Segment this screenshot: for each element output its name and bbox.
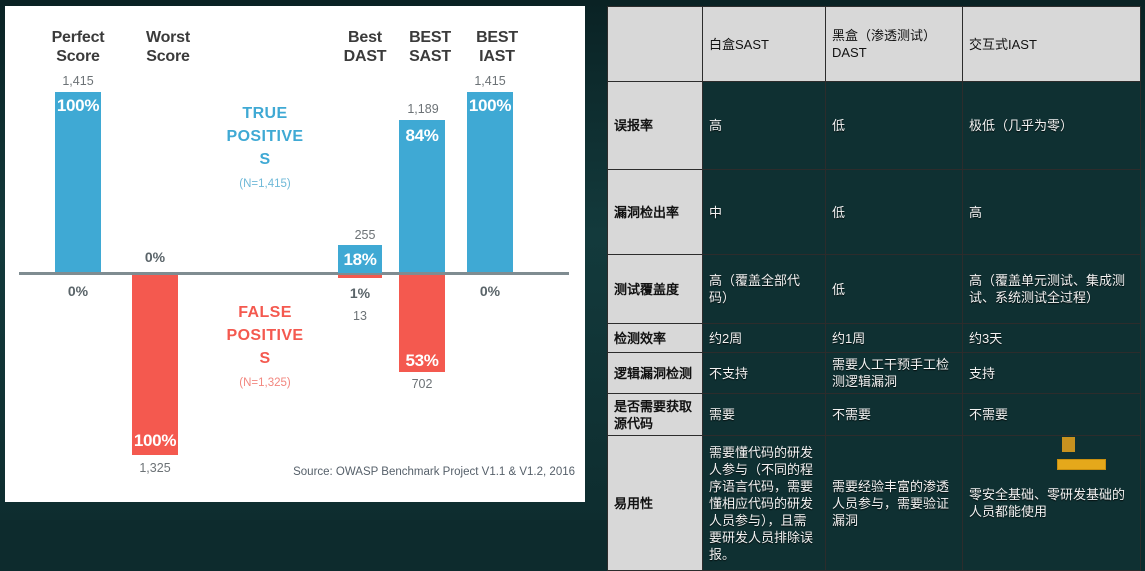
table-row: 测试覆盖度 高（覆盖全部代码） 低 高（覆盖单元测试、集成测试、系统测试全过程） xyxy=(608,255,1141,324)
legend-line-1: TRUE xyxy=(242,105,287,122)
annotation-underline-bar xyxy=(1057,459,1106,470)
chart-plot-area: Perfect Score Worst Score Best DAST BEST… xyxy=(5,6,585,502)
table-row: 误报率 高 低 极低（几乎为零） xyxy=(608,82,1141,170)
bar-count-label-dast-fp: 13 xyxy=(338,309,382,323)
table-header-dast: 黑盒（渗透测试） DAST xyxy=(826,7,963,82)
cell-ease-of-use-sast: 需要懂代码的研发人参与（不同的程序语言代码，需要懂相应代码的研发人员参与），且需… xyxy=(703,436,826,571)
category-line-1: BEST xyxy=(476,29,518,46)
bar-percent-label-worst-fp: 100% xyxy=(132,431,178,451)
legend-line-2: POSITIVE xyxy=(227,327,304,344)
cell-logic-vuln-detection-iast: 支持 xyxy=(963,353,1141,394)
bar-percent-label-dast-tp: 18% xyxy=(338,250,382,270)
cell-detection-rate-iast: 高 xyxy=(963,170,1141,255)
cell-false-positive-rate-sast: 高 xyxy=(703,82,826,170)
legend-line-3: S xyxy=(259,151,270,168)
table-header-dast-line1: 黑盒（渗透测试） xyxy=(832,28,936,43)
cell-detection-efficiency-dast: 约1周 xyxy=(826,324,963,353)
row-label-needs-source-code: 是否需要获取源代码 xyxy=(608,394,703,436)
cell-false-positive-rate-iast: 极低（几乎为零） xyxy=(963,82,1141,170)
legend-sample-size: (N=1,325) xyxy=(205,372,325,395)
owasp-benchmark-chart: Perfect Score Worst Score Best DAST BEST… xyxy=(5,6,585,502)
bar-count-label-perfect-tp: 1,415 xyxy=(33,74,123,88)
bar-iast-true-positive xyxy=(467,92,513,272)
cell-test-coverage-sast: 高（覆盖全部代码） xyxy=(703,255,826,324)
bar-count-label-sast-fp: 702 xyxy=(389,377,455,391)
table-header-row: 白盒SAST 黑盒（渗透测试） DAST 交互式IAST xyxy=(608,7,1141,82)
bar-count-label-sast-tp: 1,189 xyxy=(390,102,456,116)
cell-detection-rate-dast: 低 xyxy=(826,170,963,255)
bar-percent-label-worst-tp: 0% xyxy=(132,249,178,265)
category-line-2: SAST xyxy=(409,48,451,65)
row-label-test-coverage: 测试覆盖度 xyxy=(608,255,703,324)
row-label-detection-efficiency: 检测效率 xyxy=(608,324,703,353)
bar-dast-false-positive xyxy=(338,275,382,278)
table-header-blank xyxy=(608,7,703,82)
cell-test-coverage-dast: 低 xyxy=(826,255,963,324)
chart-source-note: Source: OWASP Benchmark Project V1.1 & V… xyxy=(285,466,575,478)
category-line-2: Score xyxy=(146,48,189,65)
slide-background: Perfect Score Worst Score Best DAST BEST… xyxy=(0,0,1145,520)
cell-needs-source-code-sast: 需要 xyxy=(703,394,826,436)
legend-sample-size: (N=1,415) xyxy=(205,173,325,196)
category-line-2: IAST xyxy=(479,48,515,65)
bar-percent-label-iast-fp: 0% xyxy=(467,283,513,299)
cell-detection-rate-sast: 中 xyxy=(703,170,826,255)
legend-false-positives: FALSE POSITIVE S (N=1,325) xyxy=(205,301,325,395)
bar-percent-label-dast-fp: 1% xyxy=(338,285,382,301)
category-line-1: Best xyxy=(348,29,382,46)
chart-zero-axis xyxy=(19,272,569,275)
bar-count-label-iast-tp: 1,415 xyxy=(457,74,523,88)
cell-logic-vuln-detection-sast: 不支持 xyxy=(703,353,826,394)
row-label-logic-vuln-detection: 逻辑漏洞检测 xyxy=(608,353,703,394)
bar-percent-label-sast-fp: 53% xyxy=(399,351,445,371)
text-cursor-highlight xyxy=(1062,437,1075,452)
bar-percent-label-perfect-tp: 100% xyxy=(55,96,101,116)
cell-detection-efficiency-iast: 约3天 xyxy=(963,324,1141,353)
category-line-1: BEST xyxy=(409,29,451,46)
row-label-ease-of-use: 易用性 xyxy=(608,436,703,571)
cell-needs-source-code-iast: 不需要 xyxy=(963,394,1141,436)
table-row: 漏洞检出率 中 低 高 xyxy=(608,170,1141,255)
cell-logic-vuln-detection-dast: 需要人工干预手工检测逻辑漏洞 xyxy=(826,353,963,394)
table-header-sast: 白盒SAST xyxy=(703,7,826,82)
legend-true-positives: TRUE POSITIVE S (N=1,415) xyxy=(205,102,325,196)
category-line-2: DAST xyxy=(344,48,387,65)
bar-perfect-true-positive xyxy=(55,92,101,272)
bar-percent-label-sast-tp: 84% xyxy=(399,126,445,146)
cell-detection-efficiency-sast: 约2周 xyxy=(703,324,826,353)
table-row: 检测效率 约2周 约1周 约3天 xyxy=(608,324,1141,353)
cell-ease-of-use-iast: 零安全基础、零研发基础的人员都能使用 xyxy=(963,436,1141,571)
table-row: 易用性 需要懂代码的研发人参与（不同的程序语言代码，需要懂相应代码的研发人员参与… xyxy=(608,436,1141,571)
category-line-1: Perfect xyxy=(52,29,105,46)
table-row: 是否需要获取源代码 需要 不需要 不需要 xyxy=(608,394,1141,436)
bar-count-label-worst-fp: 1,325 xyxy=(110,461,200,475)
bar-percent-label-iast-tp: 100% xyxy=(467,96,513,116)
table-header-dast-line2: DAST xyxy=(832,45,867,60)
cell-needs-source-code-dast: 不需要 xyxy=(826,394,963,436)
row-label-detection-rate: 漏洞检出率 xyxy=(608,170,703,255)
cell-ease-of-use-dast: 需要经验丰富的渗透人员参与，需要验证漏洞 xyxy=(826,436,963,571)
chart-category-best-iast: BEST IAST xyxy=(457,28,537,66)
cell-false-positive-rate-dast: 低 xyxy=(826,82,963,170)
comparison-table-container: 白盒SAST 黑盒（渗透测试） DAST 交互式IAST 误报率 高 低 极低（… xyxy=(607,6,1140,514)
bar-worst-false-positive xyxy=(132,275,178,455)
category-line-2: Score xyxy=(56,48,99,65)
chart-category-worst-score: Worst Score xyxy=(113,28,223,66)
table-row: 逻辑漏洞检测 不支持 需要人工干预手工检测逻辑漏洞 支持 xyxy=(608,353,1141,394)
bar-count-label-dast-tp: 255 xyxy=(332,228,398,242)
legend-line-2: POSITIVE xyxy=(227,128,304,145)
sast-dast-iast-comparison-table: 白盒SAST 黑盒（渗透测试） DAST 交互式IAST 误报率 高 低 极低（… xyxy=(607,6,1141,571)
category-line-1: Worst xyxy=(146,29,190,46)
bar-percent-label-perfect-fp: 0% xyxy=(55,283,101,299)
legend-line-1: FALSE xyxy=(238,304,292,321)
legend-line-3: S xyxy=(259,350,270,367)
row-label-false-positive-rate: 误报率 xyxy=(608,82,703,170)
cell-test-coverage-iast: 高（覆盖单元测试、集成测试、系统测试全过程） xyxy=(963,255,1141,324)
table-header-iast: 交互式IAST xyxy=(963,7,1141,82)
